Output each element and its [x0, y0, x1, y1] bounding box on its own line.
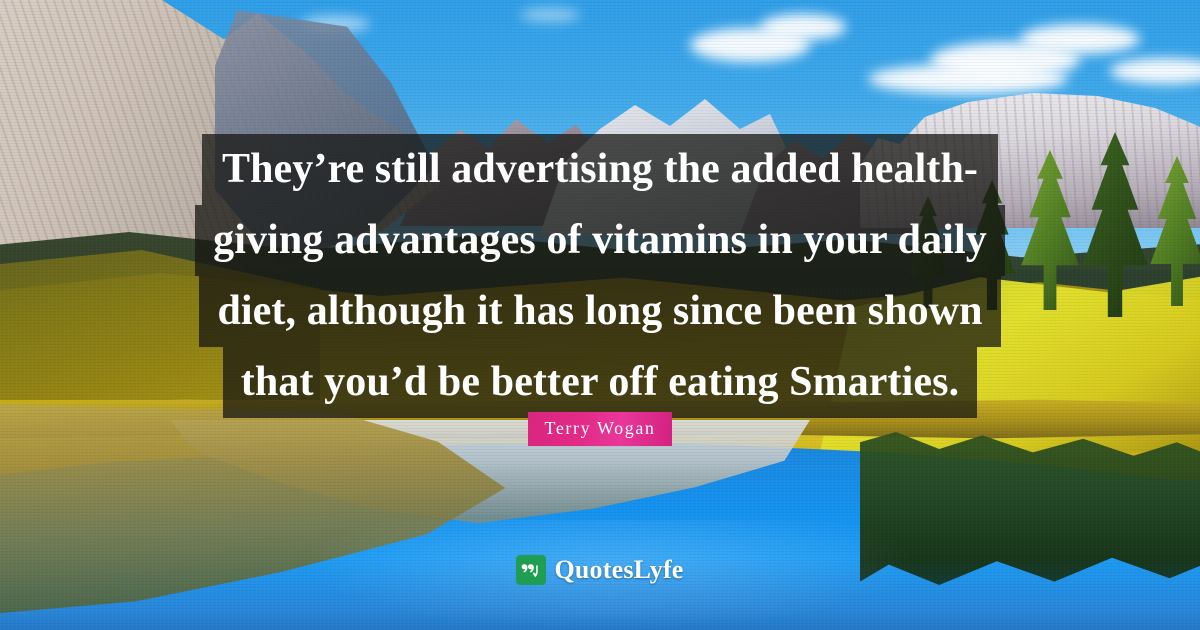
site-logo[interactable]: QuotesLyfe: [0, 555, 1200, 585]
quote-line: that you’d be better off eating Smarties…: [40, 347, 1160, 418]
quote-text: They’re still advertising the added heal…: [0, 134, 1200, 418]
site-logo-text: QuotesLyfe: [554, 555, 683, 585]
cloud: [760, 14, 846, 40]
quote-line: diet, although it has long since been sh…: [40, 276, 1160, 347]
quote-mark-icon: [516, 555, 546, 585]
quote-line: They’re still advertising the added heal…: [40, 134, 1160, 205]
author-name[interactable]: Terry Wogan: [528, 412, 671, 446]
cloud: [1020, 24, 1140, 54]
quote-line: giving advantages of vitamins in your da…: [40, 205, 1160, 276]
quote-line-text: They’re still advertising the added heal…: [202, 134, 998, 205]
quote-line-text: that you’d be better off eating Smarties…: [223, 347, 977, 418]
author-badge-wrapper: Terry Wogan: [0, 412, 1200, 446]
cloud: [868, 64, 1068, 94]
cloud: [520, 8, 580, 22]
quote-line-text: giving advantages of vitamins in your da…: [195, 205, 1005, 276]
quote-line-text: diet, although it has long since been sh…: [199, 276, 1000, 347]
quote-card: They’re still advertising the added heal…: [0, 0, 1200, 630]
